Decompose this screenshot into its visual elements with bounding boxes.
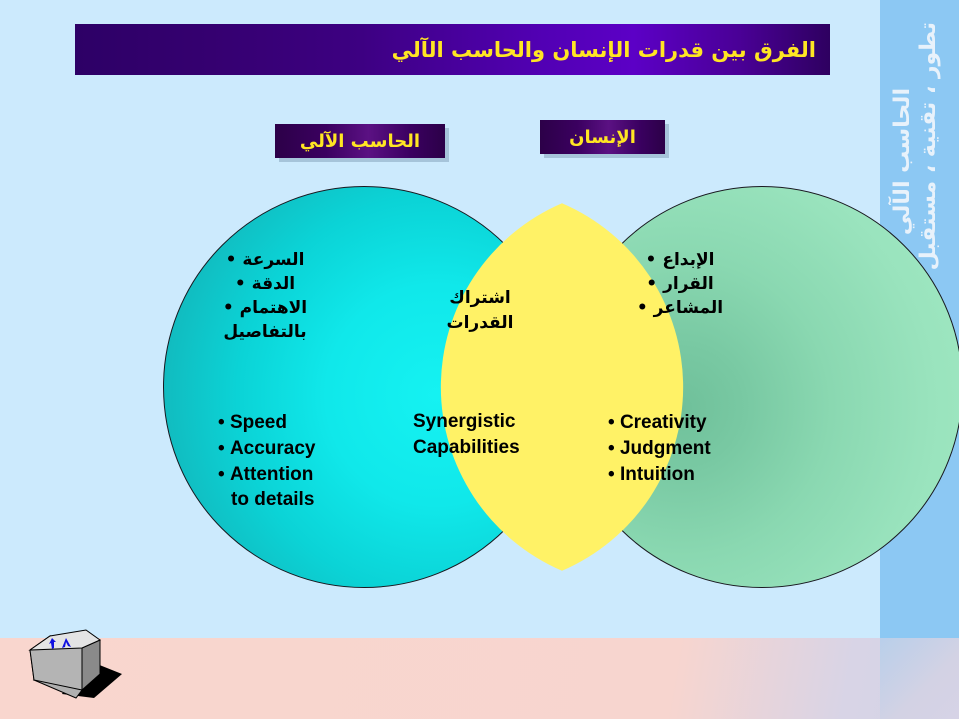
intersection-arabic-line-1: اشتراك [415, 286, 545, 311]
slide-title: الفرق بين قدرات الإنسان والحاسب الآلي [392, 38, 816, 62]
label-computer-text: الحاسب الآلي [300, 131, 420, 152]
intersection-english-line-2: Capabilities [413, 435, 563, 461]
intersection-english-text: Synergistic Capabilities [413, 409, 563, 461]
computer-english-item-2-cont: to details [218, 487, 388, 513]
computer-english-list: • Speed • Accuracy • Attention to detail… [218, 410, 388, 513]
computer-english-item-2: • Attention [218, 462, 388, 488]
computer-arabic-item-2-cont: بالتفاصيل [180, 320, 350, 344]
computer-arabic-list: السرعة • الدقة • الاهتمام • بالتفاصيل [180, 248, 350, 345]
venn-circle-computer [163, 186, 565, 588]
label-box-computer: الحاسب الآلي [275, 124, 445, 158]
sidebar-vertical-text-2: الحاسب الآلي [890, 88, 915, 235]
human-arabic-item-0: الإبداع • [600, 248, 760, 272]
intersection-english-line-1: Synergistic [413, 409, 563, 435]
human-arabic-item-1: القرار • [600, 272, 760, 296]
computer-arabic-item-0: السرعة • [180, 248, 350, 272]
human-arabic-list: الإبداع • القرار • المشاعر • [600, 248, 760, 320]
computer-english-item-0: • Speed [218, 410, 388, 436]
venn-circle-human [561, 186, 959, 588]
computer-arabic-item-1: الدقة • [180, 272, 350, 296]
bottom-right-corner [880, 638, 959, 719]
label-human-text: الإنسان [569, 127, 636, 148]
human-english-item-1: • Judgment [608, 436, 778, 462]
intersection-arabic-text: اشتراك القدرات [415, 286, 545, 335]
human-english-item-2: • Intuition [608, 462, 778, 488]
bottom-band [0, 638, 959, 719]
sidebar-vertical-text-1: تطور ، تقنية ، مستقبل [916, 22, 941, 270]
human-arabic-item-2: المشاعر • [600, 296, 760, 320]
computer-mouse-icon [22, 618, 142, 710]
computer-english-item-1: • Accuracy [218, 436, 388, 462]
slide-canvas: الفرق بين قدرات الإنسان والحاسب الآلي ال… [0, 0, 959, 719]
intersection-arabic-line-2: القدرات [415, 311, 545, 336]
human-english-item-0: • Creativity [608, 410, 778, 436]
slide-title-bar: الفرق بين قدرات الإنسان والحاسب الآلي [75, 24, 830, 75]
computer-arabic-item-2: الاهتمام • [180, 296, 350, 320]
label-box-human: الإنسان [540, 120, 665, 154]
human-english-list: • Creativity • Judgment • Intuition [608, 410, 778, 487]
